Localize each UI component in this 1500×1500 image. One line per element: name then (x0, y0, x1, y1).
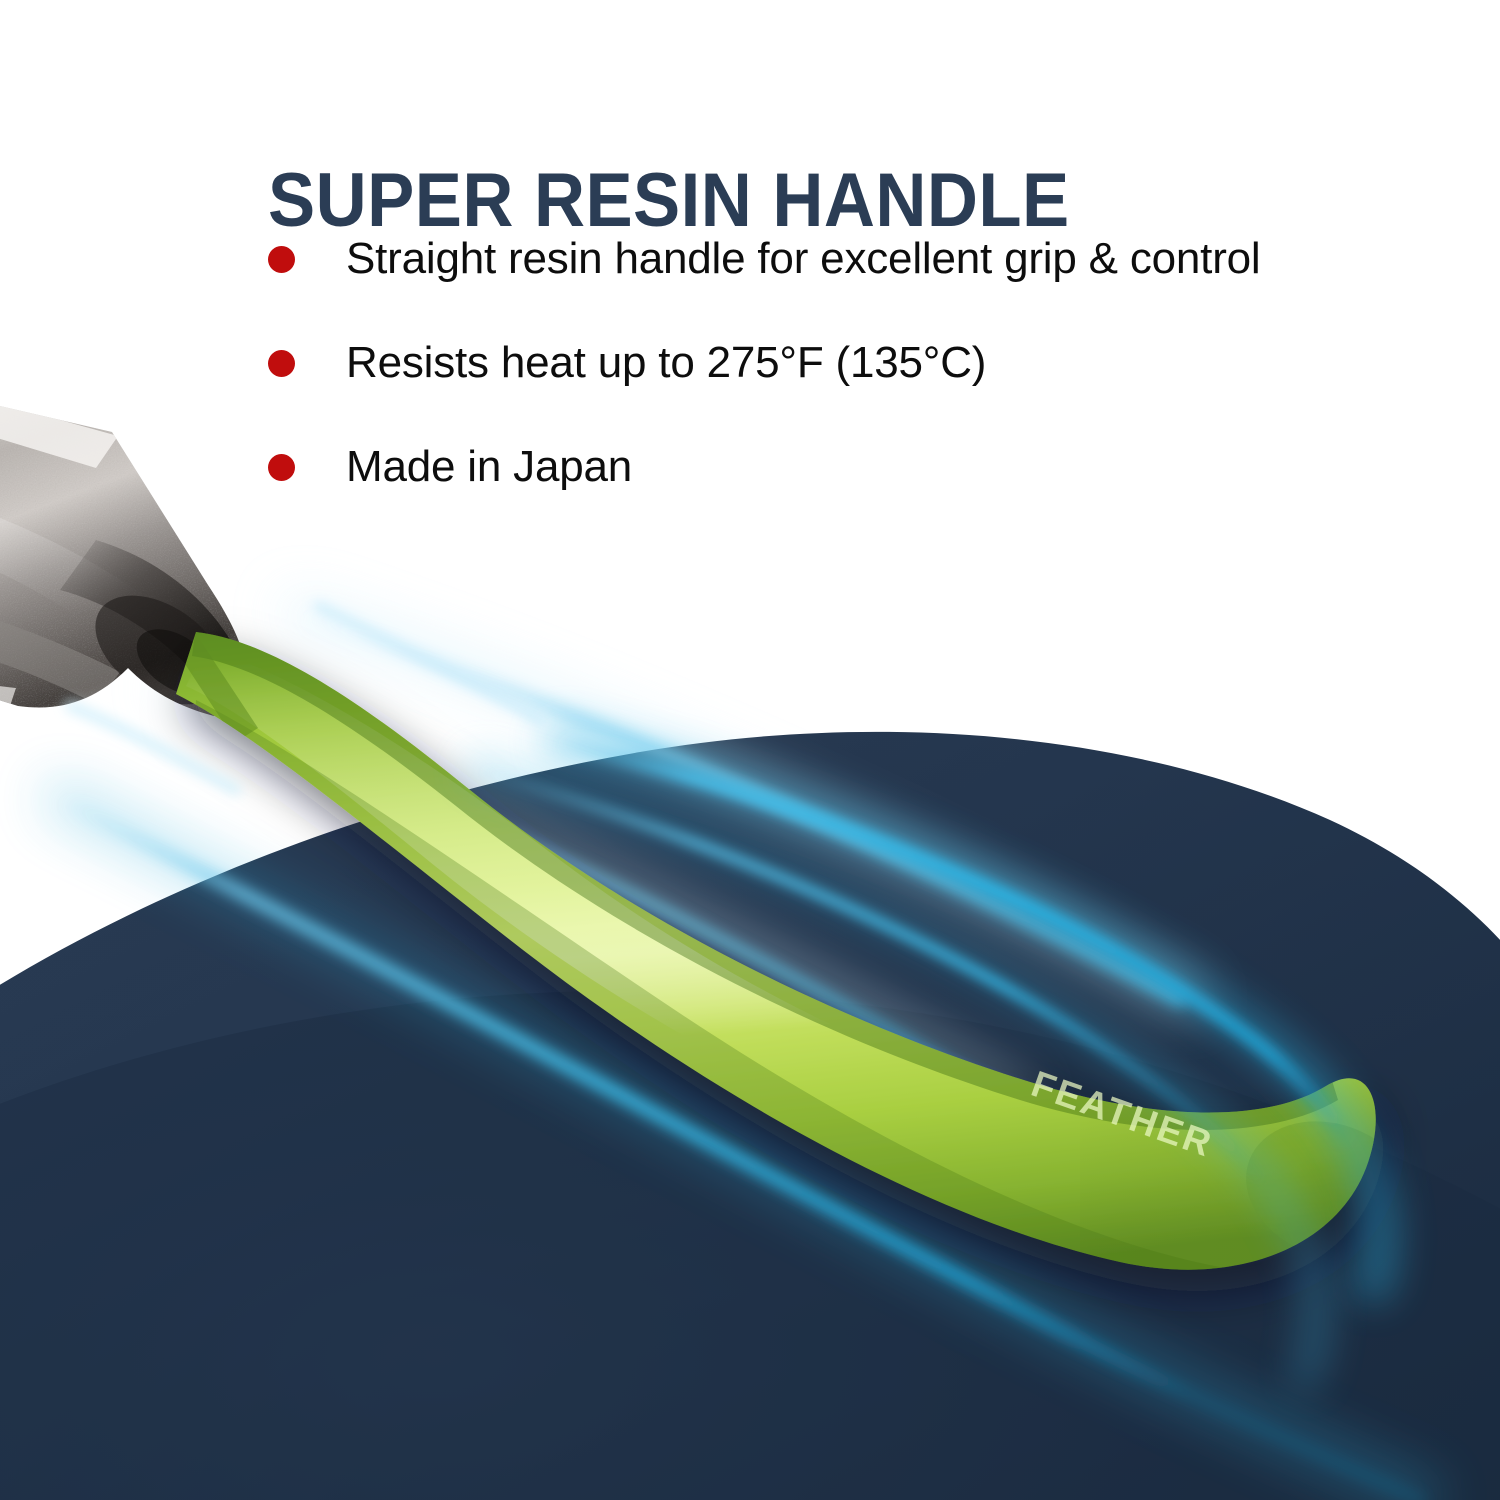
product-feature-callout: FEATHER (0, 0, 1500, 1500)
motion-swoosh-front-layer (0, 0, 1500, 1500)
